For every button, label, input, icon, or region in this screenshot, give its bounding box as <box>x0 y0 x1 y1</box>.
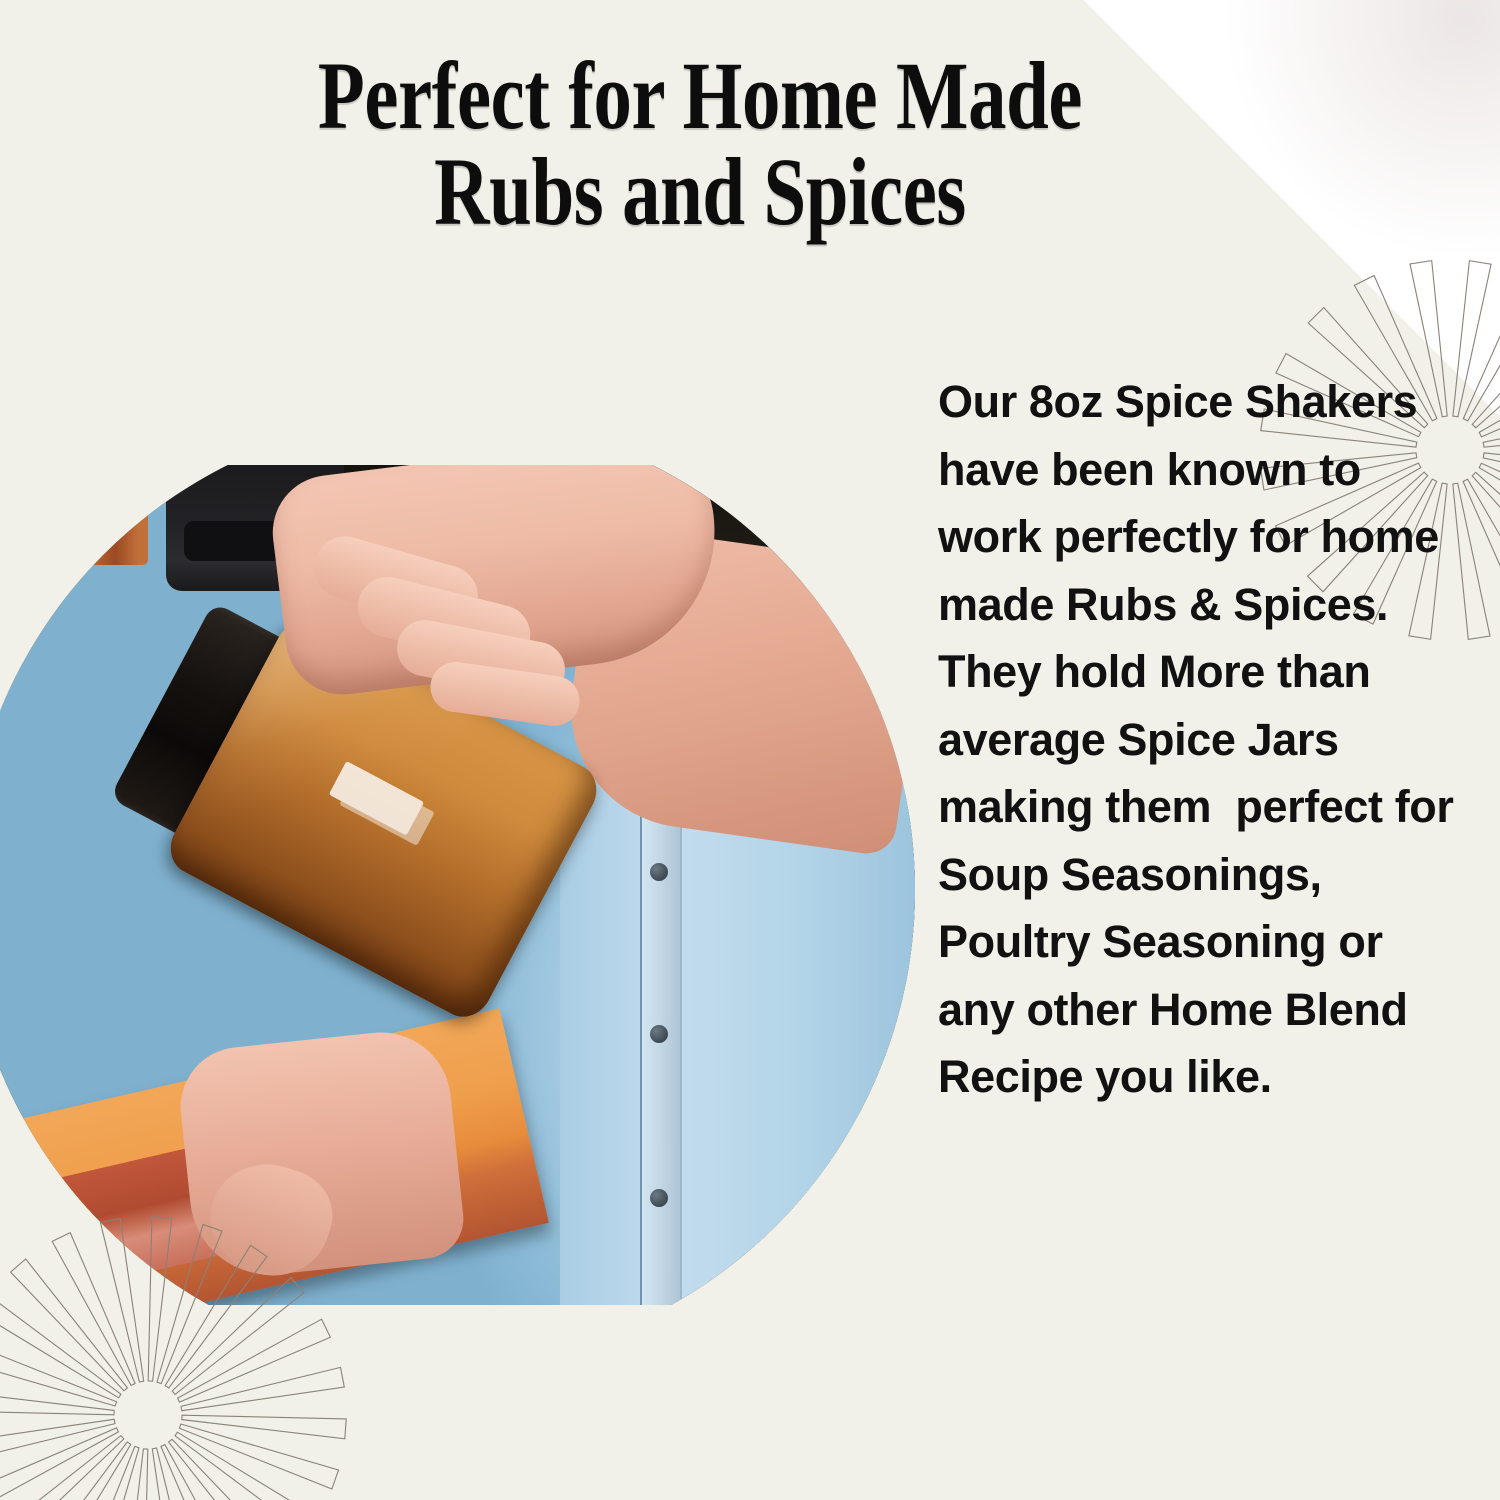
poster-canvas: Perfect for Home Made Rubs and Spices Ou… <box>0 0 1500 1500</box>
page-title: Perfect for Home Made Rubs and Spices <box>140 48 1260 240</box>
background-jar-right <box>52 473 148 565</box>
shirt-button <box>650 863 668 881</box>
shirt-button <box>650 1189 668 1207</box>
background-jar-left <box>0 475 44 565</box>
photo-circular-mask <box>0 465 920 1305</box>
product-photo <box>0 465 920 1305</box>
shirt-button <box>650 1025 668 1043</box>
photo-scene <box>0 465 920 1305</box>
body-paragraph: Our 8oz Spice Shakers have been known to… <box>938 368 1468 1111</box>
